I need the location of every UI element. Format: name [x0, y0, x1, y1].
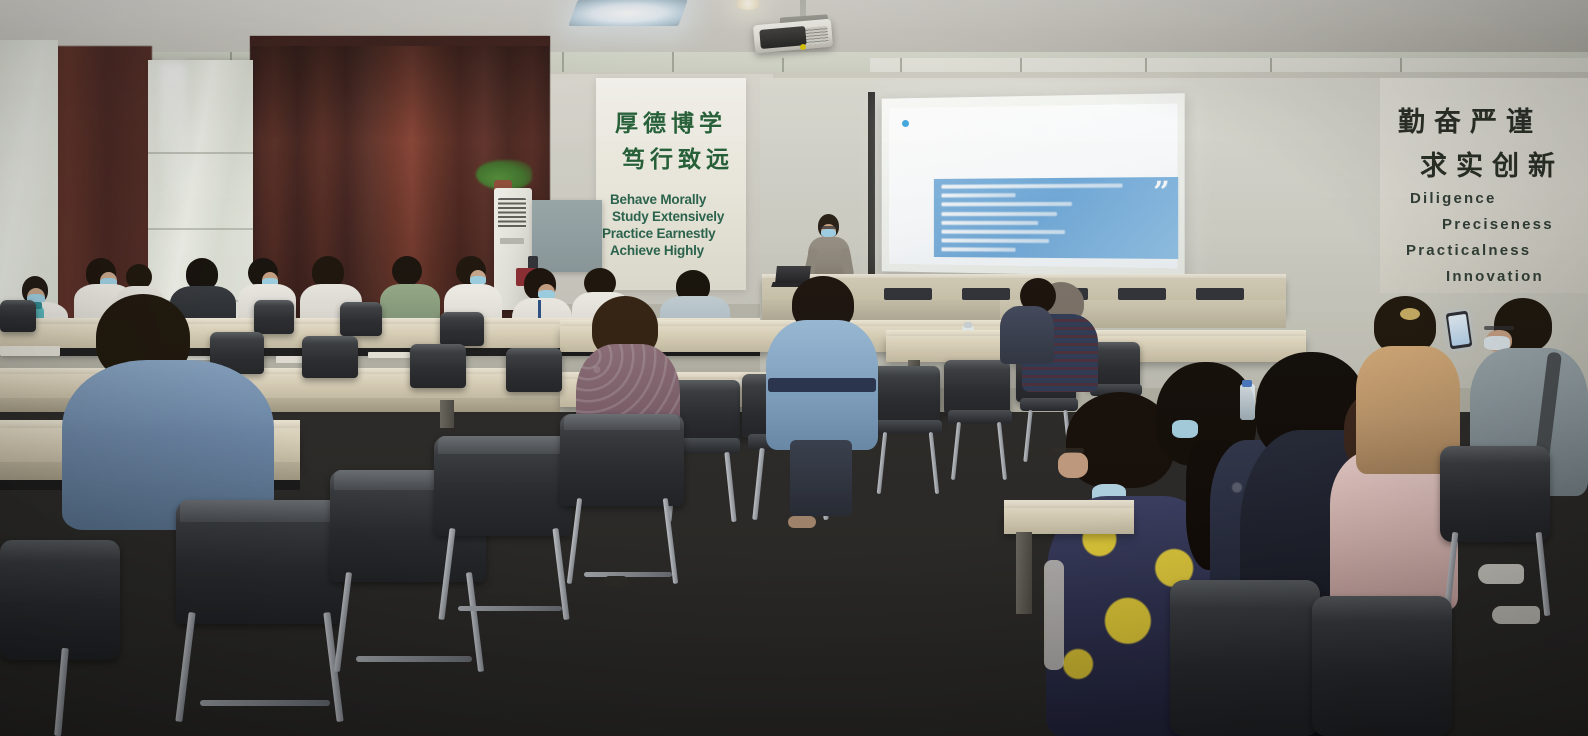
shoe: [604, 576, 628, 587]
attendee-body: [1000, 306, 1054, 364]
presenter-mask: [821, 229, 836, 237]
chair-foreground[interactable]: [1170, 580, 1320, 736]
chair-foot-rail: [200, 700, 330, 706]
chair-foot-rail: [356, 656, 472, 662]
chair[interactable]: [506, 348, 562, 392]
slide-content-box: ”: [934, 177, 1178, 259]
bottle-cap: [964, 322, 972, 328]
wall-english-line-3: Practicalness: [1406, 242, 1531, 259]
chair-leg: [997, 422, 1007, 480]
ac-vent-louvers: [498, 198, 526, 228]
slide-text-line: [941, 221, 1038, 225]
wall-chinese-line-1: 勤奋严谨: [1398, 100, 1542, 139]
chair[interactable]: [340, 302, 382, 336]
chair[interactable]: [410, 344, 466, 388]
podium-seat-block: [1196, 288, 1244, 300]
chair-foot-rail: [458, 606, 562, 611]
curtain-rod: [250, 36, 550, 46]
podium-seat-block: [1118, 288, 1166, 300]
chair-leg: [1023, 410, 1032, 462]
slide-bullet-dot: [902, 120, 909, 127]
slide-text-line: [941, 202, 1072, 206]
attendee-hair: [392, 256, 422, 286]
chair[interactable]: [0, 300, 36, 332]
attendee-face: [1058, 452, 1088, 478]
slide-text-line: [941, 248, 1015, 252]
attendee-legs: [790, 440, 852, 516]
wall-english-line-4: Innovation: [1446, 268, 1544, 285]
presenter-glasses: [820, 226, 837, 229]
banner-chinese-line-2: 笃行致远: [596, 140, 746, 174]
attendee-glasses: [1052, 448, 1084, 453]
shoe: [788, 516, 816, 528]
chair-leg: [929, 432, 939, 494]
chair-leg: [175, 612, 195, 722]
attendee-body: [1330, 450, 1458, 610]
chair-seat: [1020, 398, 1078, 411]
bag-strap: [1044, 560, 1064, 670]
podium-seat-block: [962, 288, 1010, 300]
chair-headrest: [180, 500, 338, 522]
banner-english-line-1: Behave Morally: [610, 192, 706, 207]
wall-english-line-2: Preciseness: [1442, 216, 1554, 233]
chair-leg: [951, 422, 961, 480]
table-leg: [440, 400, 454, 428]
table-right-foreground: [1004, 508, 1134, 534]
table-leg: [1016, 532, 1032, 614]
paper-document: [0, 346, 60, 356]
attendee-mask: [1172, 420, 1198, 438]
banner-english-line-2: Study Extensively: [612, 209, 724, 224]
motto-wall-right: 勤奋严谨 求实创新 Diligence Preciseness Practica…: [1380, 78, 1588, 293]
projector-vent: [805, 26, 828, 45]
gray-partition-board: [532, 200, 602, 272]
chair-foot-rail: [584, 572, 672, 577]
chair-foreground[interactable]: [1312, 596, 1452, 736]
chair-leg: [724, 452, 736, 522]
shirt-stripe: [768, 378, 876, 392]
slide-quote-glyph: ”: [1153, 181, 1170, 204]
shoe: [1492, 606, 1540, 624]
slide-text-line: [941, 230, 1064, 234]
conference-room-photo: 厚德博学 笃行致远 Behave Morally Study Extensive…: [0, 0, 1588, 736]
wall-chinese-line-2: 求实创新: [1420, 144, 1564, 183]
attendee-glasses: [1484, 326, 1514, 330]
chair[interactable]: [868, 366, 940, 424]
banner-chinese-line-1: 厚德博学: [596, 104, 746, 138]
screen-roller-bar: [868, 92, 875, 280]
slide-text-line: [941, 193, 1015, 197]
paper-document: [368, 352, 410, 358]
chair[interactable]: [944, 360, 1010, 414]
hair-clip: [1400, 308, 1420, 320]
podium-seat-block: [884, 288, 932, 300]
column-highlight: [160, 62, 186, 212]
motto-banner-left: 厚德博学 笃行致远 Behave Morally Study Extensive…: [596, 78, 746, 290]
chair[interactable]: [302, 336, 358, 378]
banner-english-line-4: Achieve Highly: [610, 243, 704, 258]
chair-headrest: [438, 436, 568, 454]
column-seam: [148, 152, 253, 154]
chair-leg: [54, 648, 69, 736]
column-seam: [148, 228, 253, 230]
chair[interactable]: [254, 300, 294, 334]
clear-water-bottle: [1240, 384, 1255, 420]
shoe: [1478, 564, 1524, 584]
ac-display-panel: [500, 238, 524, 244]
banner-english-line-3: Practice Earnestly: [602, 226, 715, 241]
bottle-cap: [1242, 380, 1252, 387]
chair-headrest: [564, 414, 680, 430]
chair-leg: [877, 432, 887, 494]
chair[interactable]: [1440, 446, 1550, 542]
slide-text-line: [941, 212, 1057, 216]
slide-text-lines: [941, 183, 1130, 258]
chair-foreground[interactable]: [0, 540, 120, 660]
wall-english-line-1: Diligence: [1410, 190, 1497, 207]
chair-leg: [752, 448, 764, 520]
slide-text-line: [941, 184, 1122, 189]
slide-text-line: [941, 239, 1049, 243]
chair-leg: [1536, 532, 1551, 616]
chair[interactable]: [440, 312, 484, 346]
recessed-ceiling-light: [568, 0, 687, 26]
